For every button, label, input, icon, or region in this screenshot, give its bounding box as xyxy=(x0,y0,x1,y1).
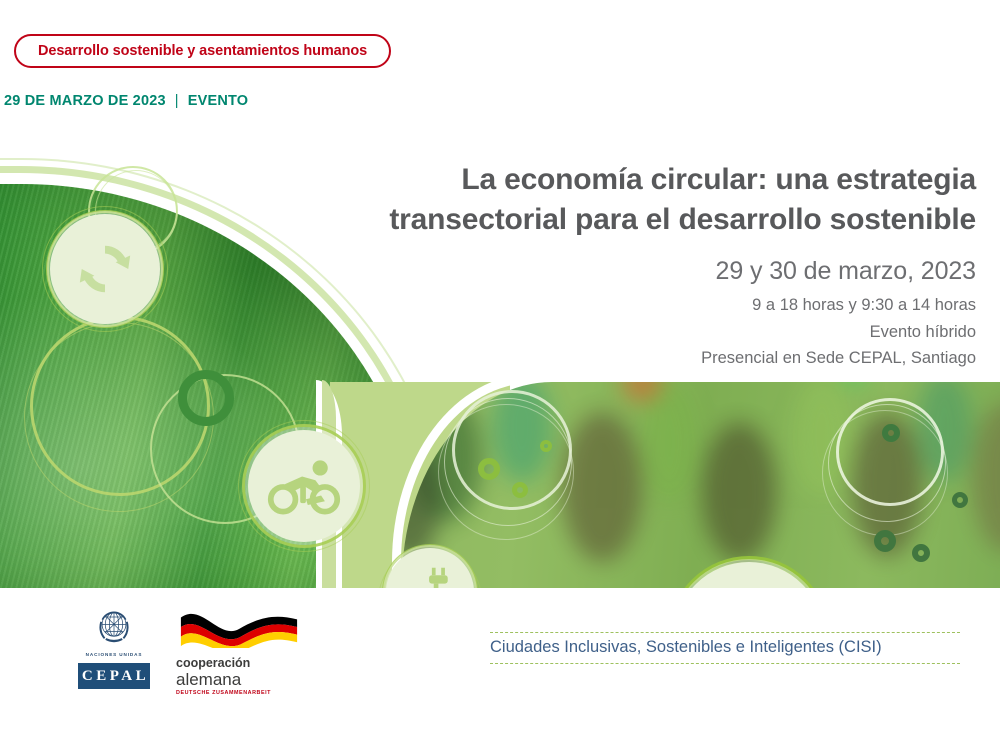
un-emblem-icon xyxy=(91,606,137,650)
event-meta: 9 a 18 horas y 9:30 a 14 horas Evento hí… xyxy=(336,292,976,372)
event-hours: 9 a 18 horas y 9:30 a 14 horas xyxy=(336,292,976,319)
page-title-line1: La economía circular: una estrategia xyxy=(336,160,976,200)
event-dates: 29 y 30 de marzo, 2023 xyxy=(336,254,976,288)
decor-ring xyxy=(478,458,500,480)
event-format: Evento híbrido xyxy=(336,319,976,346)
cyclist-icon xyxy=(248,430,360,542)
event-page: Desarrollo sostenible y asentamientos hu… xyxy=(0,0,1000,736)
decor-ring-dark xyxy=(912,544,930,562)
event-date: 29 DE MARZO DE 2023 xyxy=(4,93,166,109)
decor-ring xyxy=(178,370,234,426)
page-title: La economía circular: una estrategia tra… xyxy=(336,160,976,240)
recycle-icon xyxy=(50,214,160,324)
decor-ring-dark xyxy=(882,424,900,442)
cepal-wordmark: CEPAL xyxy=(78,663,150,689)
event-venue: Presencial en Sede CEPAL, Santiago xyxy=(336,345,976,372)
german-coop-line2: alemana xyxy=(176,671,306,689)
decor-ring xyxy=(512,482,528,498)
kicker-separator: | xyxy=(175,93,179,109)
german-cooperation-logo: cooperación alemana DEUTSCHE ZUSAMMENARB… xyxy=(176,606,306,696)
german-flag-ribbon-icon xyxy=(176,608,302,648)
decor-ring xyxy=(438,404,574,540)
german-coop-line1: cooperación xyxy=(176,657,306,670)
topic-badge-label: Desarrollo sostenible y asentamientos hu… xyxy=(38,43,367,59)
page-title-line2: transectorial para el desarrollo sosteni… xyxy=(336,200,976,240)
un-cepal-logo: NACIONES UNIDAS CEPAL xyxy=(78,606,150,689)
un-caption: NACIONES UNIDAS xyxy=(86,652,143,657)
kicker: 29 DE MARZO DE 2023 | EVENTO xyxy=(4,93,248,109)
decor-ring-dark xyxy=(874,530,896,552)
footer-logos: NACIONES UNIDAS CEPAL cooperación aleman… xyxy=(78,606,306,696)
topic-badge[interactable]: Desarrollo sostenible y asentamientos hu… xyxy=(14,34,391,68)
german-coop-line3: DEUTSCHE ZUSAMMENARBEIT xyxy=(176,690,306,696)
decor-ring xyxy=(540,440,552,452)
event-type: EVENTO xyxy=(188,93,249,109)
cisi-label: Ciudades Inclusivas, Sostenibles e Intel… xyxy=(490,632,960,664)
decor-ring-dark xyxy=(952,492,968,508)
